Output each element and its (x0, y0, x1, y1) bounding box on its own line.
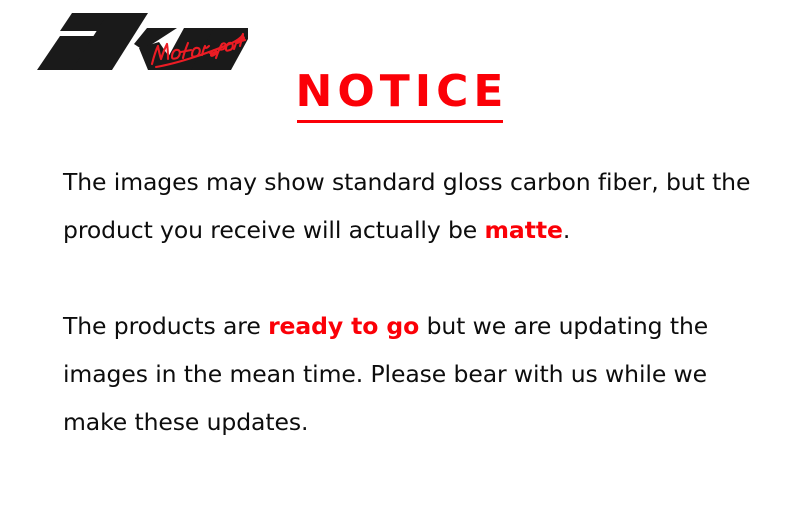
paragraph-availability: The products are ready to go but we are … (63, 302, 763, 446)
body-text-run-0: The images may show standard gloss carbo… (63, 168, 758, 244)
paragraph-finish-disclaimer: The images may show standard gloss carbo… (63, 158, 763, 254)
notice-page: NOTICE The images may show standard glos… (0, 0, 800, 510)
notice-title: NOTICE (288, 66, 513, 118)
body-text-run-0: The products are (63, 312, 268, 340)
highlighted-text: matte (485, 216, 563, 244)
brand-logo (8, 4, 248, 72)
highlighted-text: ready to go (268, 312, 419, 340)
motorsports-script-icon (150, 28, 246, 70)
notice-underline (297, 120, 503, 123)
body-text-run-2: . (563, 216, 570, 244)
notice-heading-block: NOTICE (0, 66, 800, 123)
notice-body: The images may show standard gloss carbo… (63, 158, 763, 446)
